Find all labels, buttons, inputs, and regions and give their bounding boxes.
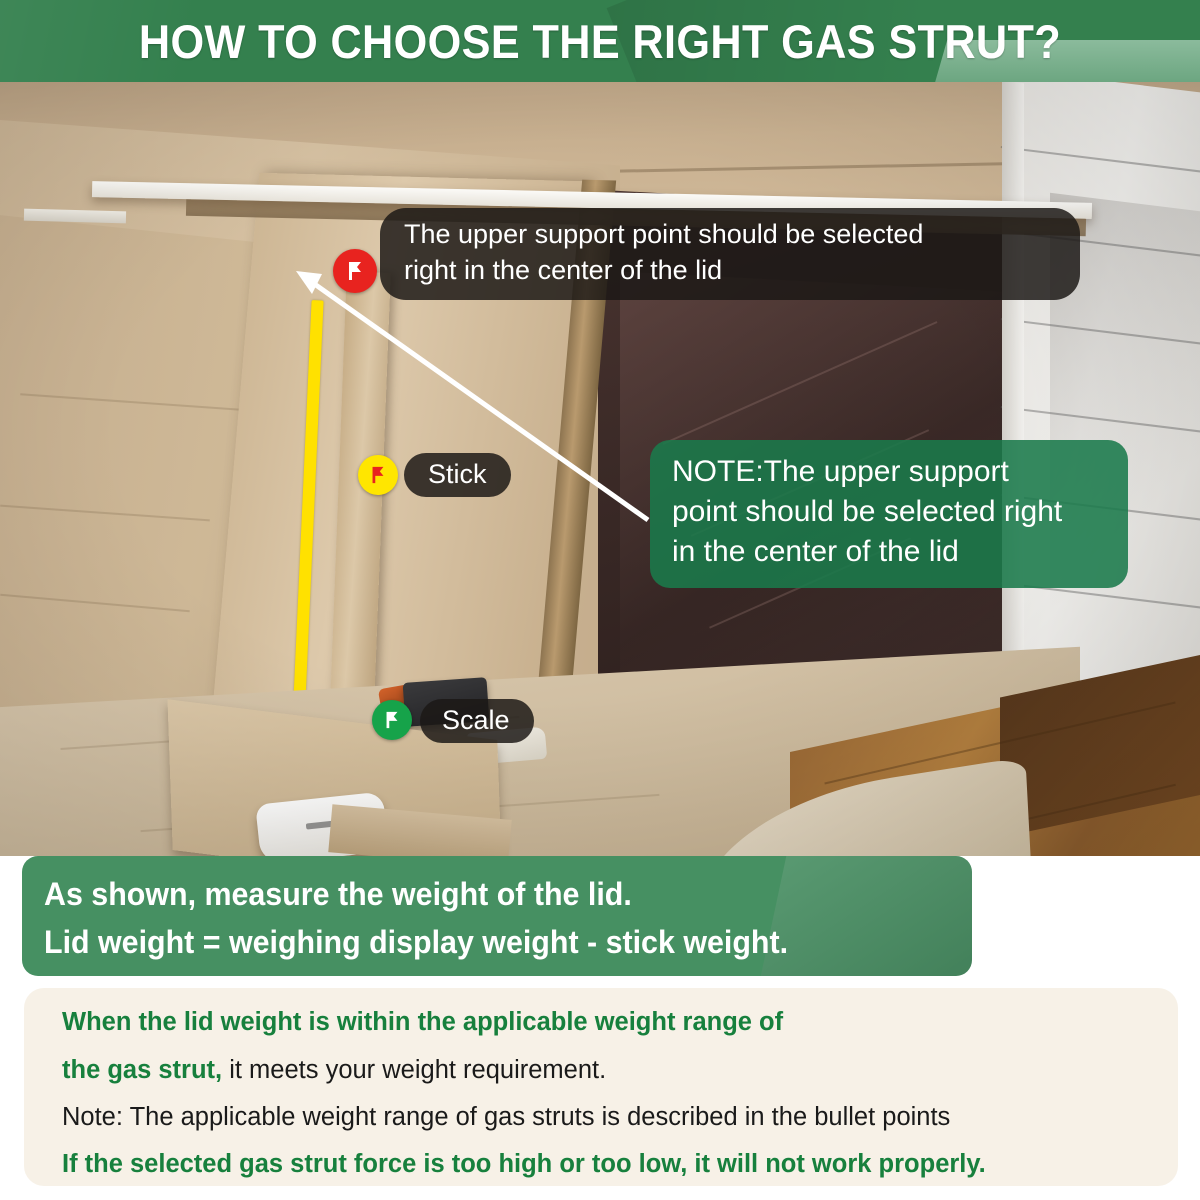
measure-line-1: As shown, measure the weight of the lid. — [44, 876, 926, 913]
stick-label-text: Stick — [428, 459, 487, 490]
scale-marker[interactable] — [372, 700, 412, 740]
page-title: HOW TO CHOOSE THE RIGHT GAS STRUT? — [48, 14, 1152, 69]
tooltip-upper-line-1: The upper support point should be select… — [404, 217, 923, 253]
stick-marker[interactable] — [358, 455, 398, 495]
info-line-4: If the selected gas strut force is too h… — [62, 1152, 1178, 1178]
note-line-1: NOTE:The upper support — [672, 452, 1062, 492]
scale-label-text: Scale — [442, 705, 510, 736]
measure-instruction-banner: As shown, measure the weight of the lid.… — [22, 856, 972, 976]
weight-range-info-card: When the lid weight is within the applic… — [24, 988, 1178, 1186]
scale-label: Scale — [420, 699, 534, 743]
header-banner: HOW TO CHOOSE THE RIGHT GAS STRUT? — [0, 0, 1200, 82]
flag-icon — [344, 260, 366, 282]
info-line-1: When the lid weight is within the applic… — [62, 1010, 1178, 1036]
info-line-2-green: the gas strut, — [62, 1056, 222, 1084]
info-line-2-black: it meets your weight requirement. — [222, 1056, 606, 1084]
measure-line-2: Lid weight = weighing display weight - s… — [44, 924, 926, 961]
tooltip-upper-support-point: The upper support point should be select… — [380, 208, 1080, 300]
infographic-root: HOW TO CHOOSE THE RIGHT GAS STRUT? — [0, 0, 1200, 1200]
info-line-2: the gas strut, it meets your weight requ… — [62, 1058, 1178, 1084]
upper-support-point-marker[interactable] — [333, 249, 377, 293]
tooltip-upper-line-2: right in the center of the lid — [404, 253, 923, 289]
info-line-3: Note: The applicable weight range of gas… — [62, 1105, 1178, 1131]
flag-icon — [382, 710, 402, 730]
note-callout: NOTE:The upper support point should be s… — [650, 440, 1128, 588]
stick-label: Stick — [404, 453, 511, 497]
note-line-2: point should be selected right — [672, 492, 1062, 532]
flag-icon — [368, 465, 388, 485]
note-line-3: in the center of the lid — [672, 532, 1062, 572]
